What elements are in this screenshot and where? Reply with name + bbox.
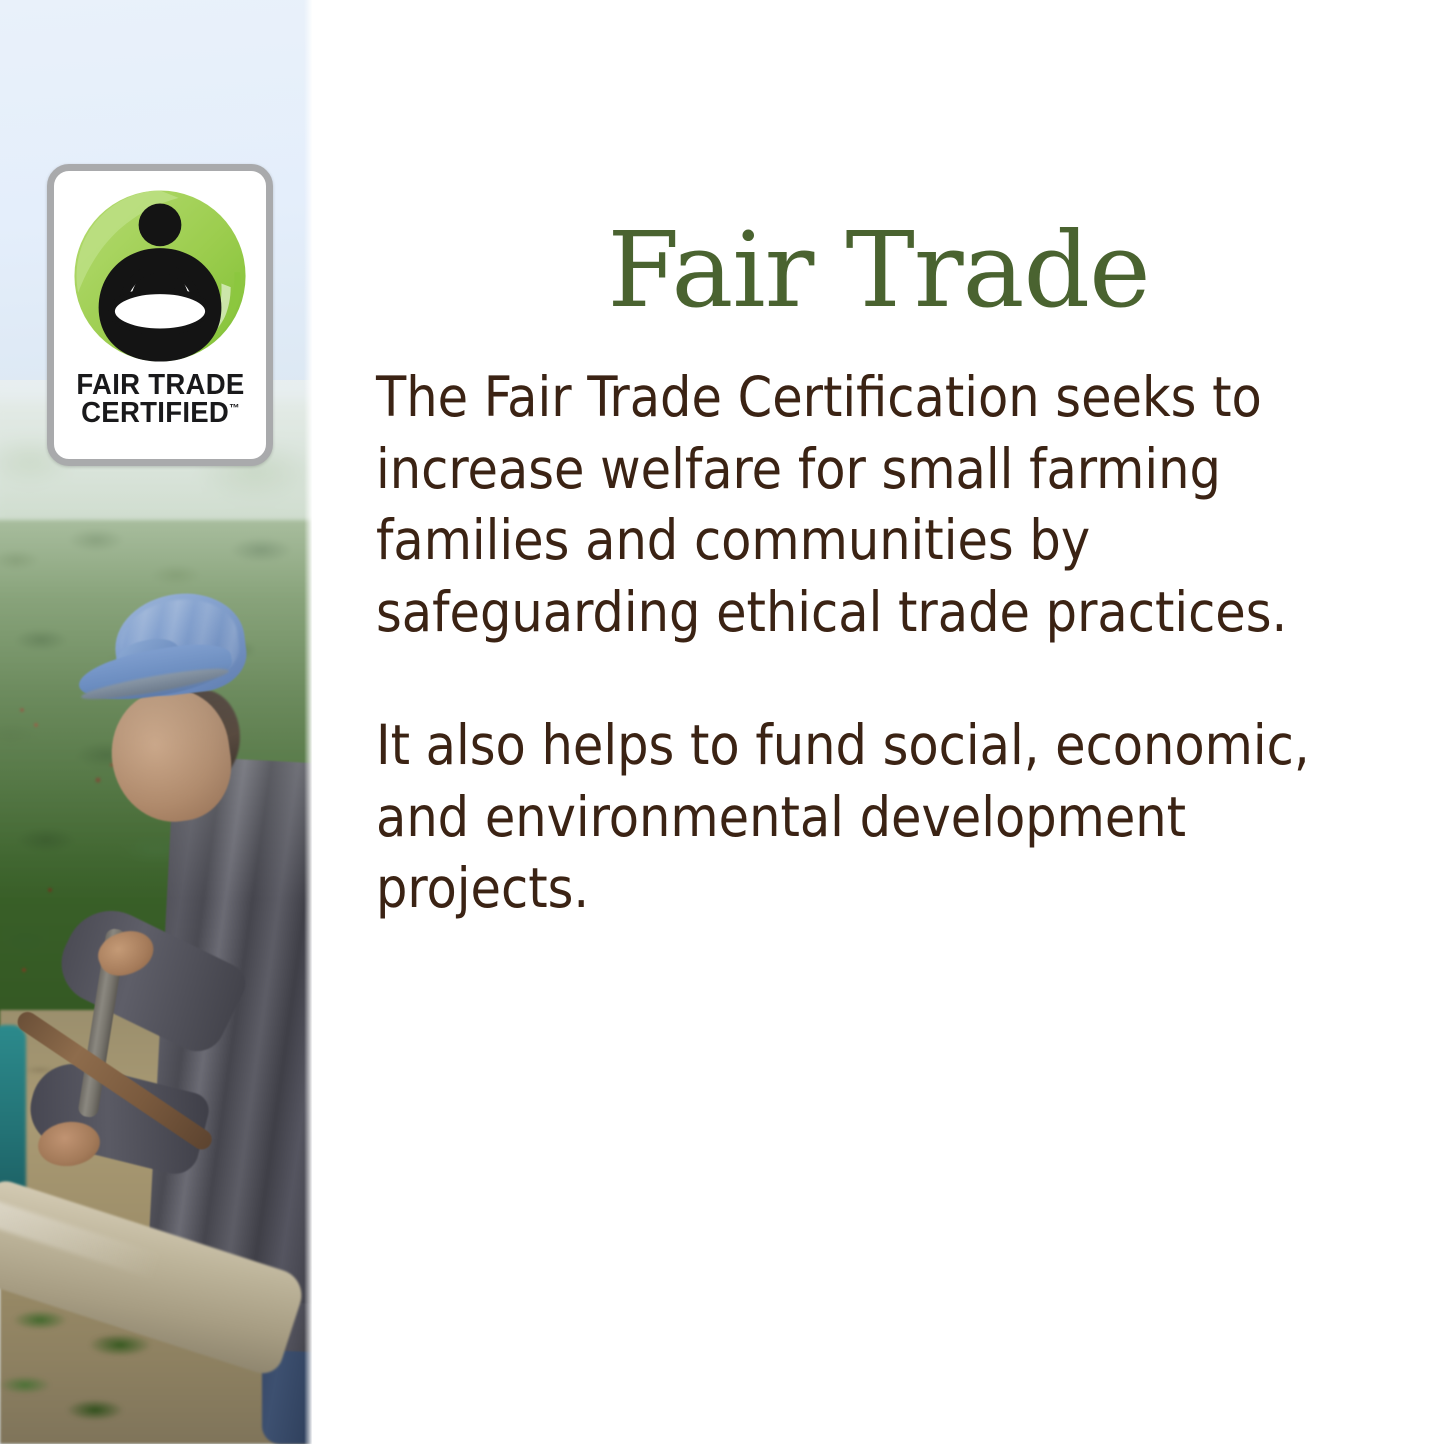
photo-right-edge-fade xyxy=(304,0,312,1444)
content-column: Fair Trade The Fair Trade Certification … xyxy=(312,0,1445,1444)
paragraph-2: It also helps to fund social, economic, … xyxy=(376,710,1376,925)
infographic-page: FAIR TRADE CERTIFIED™ Fair Trade The Fai… xyxy=(0,0,1445,1444)
fair-trade-person-with-bowl-icon xyxy=(67,183,253,369)
trademark-symbol: ™ xyxy=(229,403,240,415)
badge-line-2: CERTIFIED™ xyxy=(76,399,244,427)
badge-line-1: FAIR TRADE xyxy=(76,371,244,399)
body-copy: The Fair Trade Certification seeks to in… xyxy=(376,362,1376,925)
badge-wordmark: FAIR TRADE CERTIFIED™ xyxy=(72,371,249,428)
paragraph-spacer xyxy=(376,648,1376,710)
page-title: Fair Trade xyxy=(312,218,1445,322)
paragraph-1: The Fair Trade Certification seeks to in… xyxy=(376,362,1376,648)
fair-trade-certified-badge: FAIR TRADE CERTIFIED™ xyxy=(47,164,273,466)
second-person-silhouette xyxy=(0,1025,26,1205)
